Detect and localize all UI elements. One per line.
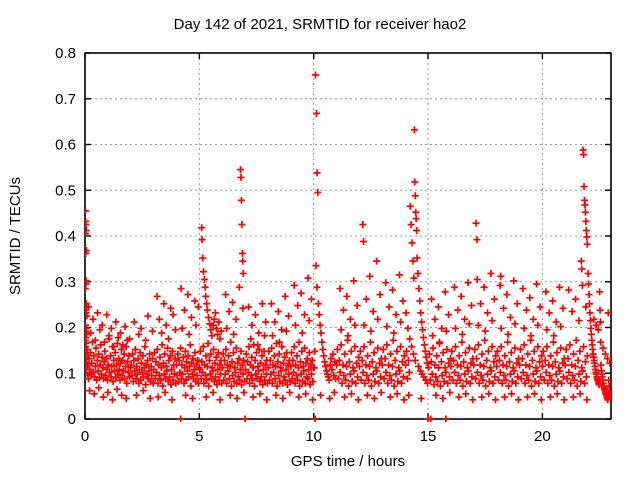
- data-point: [428, 296, 435, 303]
- data-point: [587, 317, 594, 324]
- y-axis-title: SRMTID / TECUs: [7, 177, 24, 295]
- y-tick-label: 0.6: [55, 137, 76, 154]
- data-point: [104, 389, 111, 396]
- data-point: [367, 339, 374, 346]
- data-point: [545, 362, 552, 369]
- data-point: [256, 390, 263, 397]
- x-tick-label: 0: [81, 428, 89, 445]
- data-point: [527, 332, 534, 339]
- y-tick-label: 0.5: [55, 182, 76, 199]
- data-point: [586, 291, 593, 298]
- data-point: [95, 384, 102, 391]
- data-point: [351, 322, 358, 329]
- data-point: [403, 309, 410, 316]
- data-point: [326, 395, 333, 402]
- data-point: [575, 317, 582, 324]
- data-point: [341, 394, 348, 401]
- data-point: [291, 282, 298, 289]
- data-point: [526, 294, 533, 301]
- data-point: [452, 343, 459, 350]
- data-point: [561, 396, 568, 403]
- data-point: [239, 258, 246, 265]
- data-point: [268, 300, 275, 307]
- data-point: [294, 302, 301, 309]
- data-point: [577, 390, 584, 397]
- data-point: [485, 390, 492, 397]
- data-point: [188, 314, 195, 321]
- data-point: [301, 311, 308, 318]
- data-point: [498, 325, 505, 332]
- data-point: [363, 296, 370, 303]
- data-point: [203, 394, 210, 401]
- data-point: [212, 309, 219, 316]
- data-point: [348, 348, 355, 355]
- data-point: [401, 396, 408, 403]
- data-point: [477, 362, 484, 369]
- data-point: [181, 307, 188, 314]
- data-point: [364, 392, 371, 399]
- data-point: [468, 302, 475, 309]
- data-point: [510, 277, 517, 284]
- data-point: [302, 390, 309, 397]
- data-point: [554, 390, 561, 397]
- data-point: [418, 395, 425, 402]
- data-point: [278, 326, 285, 333]
- data-point: [263, 396, 270, 403]
- data-point: [404, 325, 411, 332]
- data-point: [581, 201, 588, 208]
- data-point: [296, 339, 303, 346]
- data-point: [420, 334, 427, 341]
- data-point: [338, 326, 345, 333]
- data-point: [240, 270, 247, 277]
- data-point: [565, 286, 572, 293]
- data-point: [202, 284, 209, 291]
- data-point: [345, 332, 352, 339]
- data-point: [382, 279, 389, 286]
- data-point: [191, 297, 198, 304]
- data-point: [160, 300, 167, 307]
- data-point: [162, 389, 169, 396]
- data-point: [108, 325, 115, 332]
- data-point: [354, 302, 361, 309]
- data-point: [322, 363, 329, 370]
- data-point: [198, 224, 205, 231]
- data-point: [250, 394, 257, 401]
- data-point: [439, 395, 446, 402]
- data-point: [82, 207, 89, 214]
- data-point: [387, 394, 394, 401]
- data-point: [338, 341, 345, 348]
- data-point: [508, 349, 515, 356]
- data-point: [222, 291, 229, 298]
- data-point: [407, 203, 414, 210]
- data-point-layer: [82, 71, 614, 422]
- data-point: [347, 316, 354, 323]
- data-point: [238, 197, 245, 204]
- data-point: [478, 394, 485, 401]
- data-point: [298, 290, 305, 297]
- data-point: [543, 326, 550, 333]
- data-point: [533, 281, 540, 288]
- data-point: [396, 271, 403, 278]
- data-point: [189, 395, 196, 402]
- data-point: [568, 362, 575, 369]
- data-point: [584, 241, 591, 248]
- data-point: [504, 339, 511, 346]
- y-tick-label: 0.8: [55, 45, 76, 62]
- data-point: [316, 311, 323, 318]
- data-point: [393, 348, 400, 355]
- data-point: [94, 309, 101, 316]
- data-point: [547, 394, 554, 401]
- data-point: [455, 394, 462, 401]
- data-point: [156, 316, 163, 323]
- data-point: [252, 311, 259, 318]
- data-point: [343, 293, 350, 300]
- data-point: [383, 323, 390, 330]
- data-point: [414, 270, 421, 277]
- data-point: [580, 151, 587, 158]
- data-point: [232, 316, 239, 323]
- data-point: [295, 394, 302, 401]
- x-tick-label: 10: [305, 428, 322, 445]
- data-point: [112, 319, 119, 326]
- data-point: [497, 282, 504, 289]
- data-point: [451, 284, 458, 291]
- data-point: [442, 288, 449, 295]
- data-point: [187, 341, 194, 348]
- data-point: [554, 349, 561, 356]
- data-point: [184, 291, 191, 298]
- data-point: [566, 341, 573, 348]
- data-point: [417, 309, 424, 316]
- data-point: [578, 265, 585, 272]
- data-point: [360, 238, 367, 245]
- data-point: [583, 396, 590, 403]
- data-point: [133, 392, 140, 399]
- data-point: [454, 307, 461, 314]
- data-point: [199, 236, 206, 243]
- data-point: [421, 341, 428, 348]
- data-point: [370, 308, 377, 315]
- data-point: [242, 416, 249, 423]
- data-point: [563, 346, 570, 353]
- data-point: [312, 416, 319, 423]
- data-point: [348, 390, 355, 397]
- data-point: [572, 296, 579, 303]
- y-tick-label: 0.2: [55, 320, 76, 337]
- data-point: [573, 337, 580, 344]
- data-point: [371, 349, 378, 356]
- data-point: [489, 343, 496, 350]
- data-point: [351, 343, 358, 350]
- data-point: [227, 339, 234, 346]
- data-point: [366, 273, 373, 280]
- data-point: [158, 329, 165, 336]
- data-point: [484, 309, 491, 316]
- data-point: [283, 328, 290, 335]
- data-point: [481, 337, 488, 344]
- data-point: [569, 308, 576, 315]
- data-point: [406, 335, 413, 342]
- data-point: [306, 317, 313, 324]
- data-point: [230, 331, 237, 338]
- data-point: [498, 343, 505, 350]
- data-point: [547, 352, 554, 359]
- data-point: [319, 346, 326, 353]
- data-point: [538, 396, 545, 403]
- data-point: [585, 270, 592, 277]
- data-point: [405, 392, 412, 399]
- data-point: [90, 316, 97, 323]
- data-point: [177, 416, 184, 423]
- data-point: [229, 299, 236, 306]
- data-point: [315, 300, 322, 307]
- data-point: [390, 337, 397, 344]
- data-point: [442, 416, 449, 423]
- data-point: [399, 297, 406, 304]
- data-point: [546, 309, 553, 316]
- data-point: [430, 345, 437, 352]
- data-point: [165, 335, 172, 342]
- data-point: [141, 343, 148, 350]
- data-point: [168, 396, 175, 403]
- data-point: [482, 328, 489, 335]
- data-point: [557, 345, 564, 352]
- data-point: [318, 339, 325, 346]
- data-point: [413, 215, 420, 222]
- data-point: [542, 288, 549, 295]
- data-point: [248, 322, 255, 329]
- data-point: [570, 351, 577, 358]
- data-point: [226, 308, 233, 315]
- data-point: [503, 291, 510, 298]
- data-point: [271, 319, 278, 326]
- x-tick-label: 15: [420, 428, 437, 445]
- data-point: [389, 286, 396, 293]
- data-point: [309, 396, 316, 403]
- data-point: [583, 227, 590, 234]
- data-point: [373, 258, 380, 265]
- data-point: [524, 394, 531, 401]
- data-point: [424, 360, 431, 367]
- data-point: [282, 293, 289, 300]
- data-point: [355, 396, 362, 403]
- y-tick-label: 0.7: [55, 91, 76, 108]
- data-point: [473, 236, 480, 243]
- data-point: [275, 308, 282, 315]
- data-point: [203, 300, 210, 307]
- data-point: [580, 343, 587, 350]
- scatter-plot: 00.10.20.30.40.50.60.70.805101520 GPS ti…: [0, 0, 640, 480]
- data-point: [553, 319, 560, 326]
- data-point: [578, 258, 585, 265]
- data-point: [206, 320, 213, 327]
- data-point: [475, 341, 482, 348]
- data-point: [416, 297, 423, 304]
- data-point: [410, 275, 417, 282]
- data-point: [531, 348, 538, 355]
- data-point: [461, 316, 468, 323]
- data-point: [312, 71, 319, 78]
- data-point: [500, 305, 507, 312]
- data-point: [559, 305, 566, 312]
- data-point: [331, 389, 338, 396]
- data-point: [462, 349, 469, 356]
- data-point: [435, 303, 442, 310]
- data-point: [179, 325, 186, 332]
- data-point: [313, 284, 320, 291]
- data-point: [507, 314, 514, 321]
- data-point: [436, 339, 443, 346]
- data-point: [489, 317, 496, 324]
- data-point: [208, 332, 215, 339]
- data-point: [418, 319, 425, 326]
- data-point: [387, 351, 394, 358]
- data-point: [210, 389, 217, 396]
- data-point: [318, 329, 325, 336]
- data-point: [155, 394, 162, 401]
- data-point: [500, 362, 507, 369]
- data-point: [311, 348, 318, 355]
- data-point: [459, 331, 466, 338]
- data-point: [583, 373, 590, 380]
- data-point: [515, 396, 522, 403]
- data-point: [408, 343, 415, 350]
- data-point: [380, 346, 387, 353]
- data-point: [557, 323, 564, 330]
- data-point: [522, 362, 529, 369]
- data-point: [236, 284, 243, 291]
- data-point: [299, 329, 306, 336]
- y-tick-label: 0: [68, 411, 76, 428]
- data-point: [511, 320, 518, 327]
- data-point: [122, 323, 129, 330]
- data-point: [441, 364, 448, 371]
- data-point: [341, 351, 348, 358]
- data-point: [411, 179, 418, 186]
- data-point: [199, 254, 206, 261]
- data-point: [549, 297, 556, 304]
- data-point: [178, 285, 185, 292]
- data-point: [511, 345, 518, 352]
- data-point: [433, 352, 440, 359]
- data-point: [565, 355, 572, 362]
- data-point: [514, 300, 521, 307]
- data-point: [412, 192, 419, 199]
- data-point: [279, 395, 286, 402]
- data-point: [473, 355, 480, 362]
- data-point: [186, 331, 193, 338]
- data-point: [479, 351, 486, 358]
- x-axis-title: GPS time / hours: [291, 453, 405, 470]
- data-point: [596, 288, 603, 295]
- data-point: [385, 362, 392, 369]
- data-point: [582, 209, 589, 216]
- data-point: [364, 352, 371, 359]
- data-point: [508, 390, 515, 397]
- data-point: [390, 329, 397, 336]
- data-point: [409, 239, 416, 246]
- data-point: [469, 396, 476, 403]
- data-point: [531, 390, 538, 397]
- data-point: [172, 326, 179, 333]
- data-point: [521, 325, 528, 332]
- data-point: [581, 183, 588, 190]
- data-point: [523, 307, 530, 314]
- x-tick-label: 20: [534, 428, 551, 445]
- data-point: [317, 322, 324, 329]
- data-point: [314, 169, 321, 176]
- y-tick-label: 0.3: [55, 274, 76, 291]
- data-point: [304, 275, 311, 282]
- data-point: [285, 313, 292, 320]
- data-point: [411, 126, 418, 133]
- data-point: [458, 293, 465, 300]
- data-point: [458, 339, 465, 346]
- data-point: [497, 273, 504, 280]
- data-point: [481, 284, 488, 291]
- data-point: [359, 221, 366, 228]
- data-point: [586, 309, 593, 316]
- data-point: [550, 332, 557, 339]
- data-point: [269, 332, 276, 339]
- data-point: [446, 389, 453, 396]
- data-point: [317, 392, 324, 399]
- data-point: [367, 328, 374, 335]
- data-point: [454, 362, 461, 369]
- data-point: [334, 346, 341, 353]
- data-point: [530, 316, 537, 323]
- data-point: [187, 383, 194, 390]
- data-point: [170, 311, 177, 318]
- data-point: [240, 389, 247, 396]
- data-point: [465, 279, 472, 286]
- data-point: [433, 392, 440, 399]
- data-point: [519, 285, 526, 292]
- data-point: [216, 396, 223, 403]
- data-point: [445, 311, 452, 318]
- data-point: [501, 352, 508, 359]
- data-point: [239, 250, 246, 257]
- data-point: [114, 386, 121, 393]
- data-point: [408, 221, 415, 228]
- data-point: [583, 233, 590, 240]
- data-point: [192, 322, 199, 329]
- data-point: [308, 296, 315, 303]
- data-point: [167, 305, 174, 312]
- chart-figure: Day 142 of 2021, SRMTID for receiver hao…: [0, 0, 640, 480]
- data-point: [259, 300, 266, 307]
- data-point: [474, 276, 481, 283]
- data-point: [597, 307, 604, 314]
- data-point: [382, 355, 389, 362]
- data-point: [163, 322, 170, 329]
- data-point: [286, 389, 293, 396]
- data-point: [234, 395, 241, 402]
- data-point: [262, 319, 269, 326]
- data-point: [491, 296, 498, 303]
- data-point: [154, 293, 161, 300]
- data-point: [505, 331, 512, 338]
- data-point: [429, 332, 436, 339]
- data-point: [245, 303, 252, 310]
- data-point: [374, 345, 381, 352]
- data-point: [517, 346, 524, 353]
- data-point: [109, 396, 116, 403]
- y-tick-label: 0.1: [55, 365, 76, 382]
